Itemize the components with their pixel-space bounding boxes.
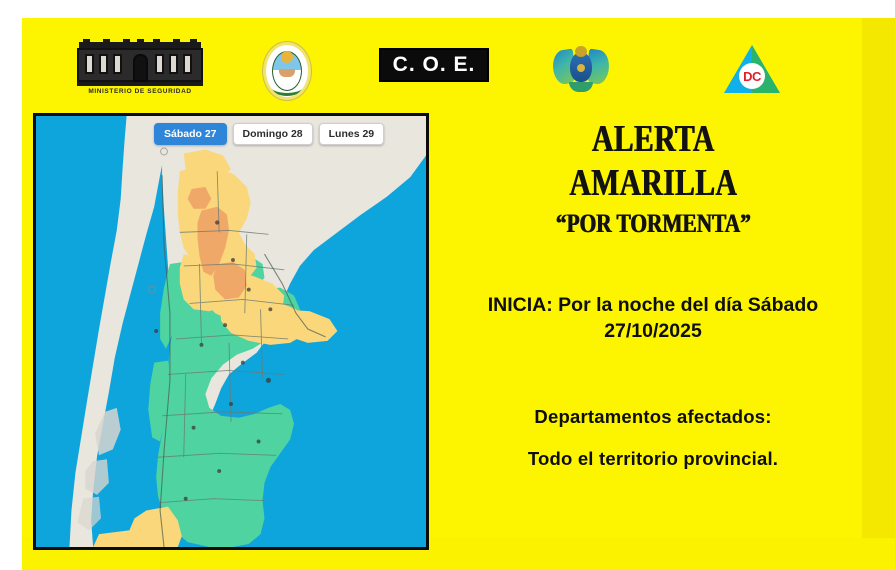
coat-of-arms-icon — [263, 42, 311, 100]
agency-logo-strip: MINISTERIO DE SEGURIDAD C. O. E. — [22, 40, 862, 108]
civil-defense-label: DC — [743, 69, 761, 84]
poster-right-edge — [862, 18, 895, 570]
civil-defense-logo: DC — [712, 40, 792, 95]
alert-poster: MINISTERIO DE SEGURIDAD C. O. E. — [0, 0, 895, 570]
winged-police-emblem-icon — [553, 44, 609, 96]
map-day-tab-domingo[interactable]: Domingo 28 — [233, 123, 313, 145]
alert-map-panel[interactable]: Sábado 27 Domingo 28 Lunes 29 — [33, 113, 429, 550]
provincial-coat-of-arms-logo — [252, 40, 322, 100]
coe-plaque-icon: C. O. E. — [379, 48, 489, 82]
alert-start-date: 27/10/2025 — [604, 320, 702, 342]
ministry-caption: MINISTERIO DE SEGURIDAD — [70, 88, 210, 95]
alert-reason: “POR TORMENTA” — [481, 211, 825, 237]
coe-label: C. O. E. — [393, 53, 476, 77]
affected-departments-value: Todo el territorio provincial. — [443, 448, 863, 470]
map-day-tabs[interactable]: Sábado 27 Domingo 28 Lunes 29 — [154, 123, 384, 145]
alert-text-column: ALERTA AMARILLA “POR TORMENTA” INICIA: P… — [443, 120, 863, 470]
affected-departments-label: Departamentos afectados: — [443, 406, 863, 428]
alert-title-line2: AMARILLA — [489, 164, 817, 202]
map-day-tab-sabado[interactable]: Sábado 27 — [154, 123, 227, 145]
alert-start-label: INICIA: Por la noche del día Sábado — [488, 294, 818, 316]
civil-defense-triangle-icon: DC — [724, 45, 780, 95]
map-day-tab-lunes[interactable]: Lunes 29 — [319, 123, 385, 145]
alert-title-line1: ALERTA — [489, 120, 817, 158]
police-emblem-logo — [542, 40, 620, 96]
coe-logo: C. O. E. — [374, 40, 494, 82]
alert-start-block: INICIA: Por la noche del día Sábado 27/1… — [443, 293, 863, 344]
argentina-alert-map[interactable] — [36, 116, 426, 547]
ministry-of-security-logo: MINISTERIO DE SEGURIDAD — [70, 40, 210, 95]
government-building-icon — [77, 42, 203, 86]
